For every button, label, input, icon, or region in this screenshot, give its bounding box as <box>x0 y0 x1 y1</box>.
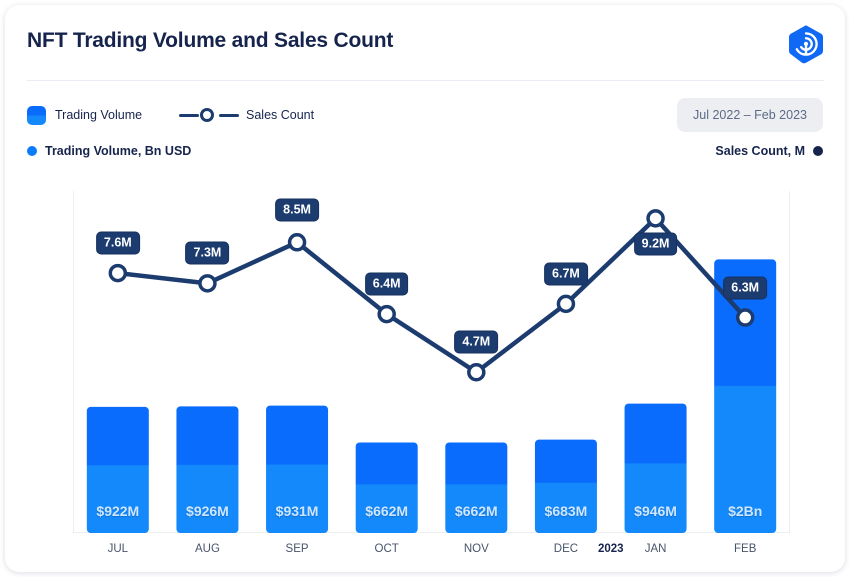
bar-value-label-aug: $926M <box>186 503 229 519</box>
page-title: NFT Trading Volume and Sales Count <box>27 29 393 53</box>
x-axis-year-divider: 2023 <box>598 543 624 555</box>
x-axis-tick-nov: NOV <box>464 543 489 555</box>
sales-count-label-nov: 4.7M <box>454 331 498 354</box>
bar-nov[interactable] <box>445 442 507 533</box>
legend-bar-label: Trading Volume <box>55 108 142 122</box>
sales-count-label-aug: 7.3M <box>186 242 230 265</box>
bar-value-label-feb: $2Bn <box>728 503 762 519</box>
legend-item-sales-count[interactable]: Sales Count <box>179 104 314 126</box>
date-range-pill[interactable]: Jul 2022 – Feb 2023 <box>677 98 823 132</box>
legend-item-trading-volume[interactable]: Trading Volume <box>27 104 142 126</box>
legend-line-marker-icon <box>179 106 239 124</box>
hexagon-spiral-logo-icon <box>784 22 828 66</box>
x-axis-tick-oct: OCT <box>375 543 399 555</box>
line-marker-feb[interactable] <box>738 310 753 325</box>
bar-value-label-oct: $662M <box>365 503 408 519</box>
sales-count-label-dec: 6.7M <box>544 262 588 285</box>
x-axis-tick-dec: DEC <box>554 543 578 555</box>
left-axis-title-label: Trading Volume, Bn USD <box>45 144 191 158</box>
sales-count-label-oct: 6.4M <box>365 273 409 296</box>
bar-value-label-sep: $931M <box>276 503 319 519</box>
line-marker-jan[interactable] <box>648 211 663 226</box>
line-marker-aug[interactable] <box>200 276 215 291</box>
bar-value-label-jan: $946M <box>634 503 677 519</box>
x-axis-tick-jul: JUL <box>108 543 128 555</box>
line-marker-jul[interactable] <box>110 266 125 281</box>
bar-value-label-dec: $683M <box>545 503 588 519</box>
right-axis-title-label: Sales Count, M <box>715 144 805 158</box>
left-axis-dot-icon <box>27 146 37 156</box>
sales-count-label-sep: 8.5M <box>275 199 319 222</box>
left-axis-title: Trading Volume, Bn USD <box>27 144 191 158</box>
line-marker-dec[interactable] <box>558 296 573 311</box>
line-marker-nov[interactable] <box>469 365 484 380</box>
chart-svg <box>73 191 790 533</box>
bar-oct[interactable] <box>356 442 418 533</box>
sales-count-label-jan: 9.2M <box>634 233 678 256</box>
line-marker-oct[interactable] <box>379 307 394 322</box>
sales-count-label-jul: 7.6M <box>96 232 140 255</box>
legend-line-label: Sales Count <box>246 108 314 122</box>
chart-plot-area: 0$0.5$1$1.5$2$2.5 0246810 JULAUGSEPOCTNO… <box>73 191 790 533</box>
x-axis-tick-sep: SEP <box>286 543 309 555</box>
bar-value-label-jul: $922M <box>96 503 139 519</box>
x-axis-tick-aug: AUG <box>195 543 220 555</box>
legend-bar-swatch-icon <box>27 106 46 125</box>
x-axis-tick-jan: JAN <box>645 543 667 555</box>
sales-count-label-feb: 6.3M <box>723 276 767 299</box>
x-axis-tick-feb: FEB <box>734 543 756 555</box>
header-divider <box>27 80 824 81</box>
bar-value-label-nov: $662M <box>455 503 498 519</box>
chart-card: NFT Trading Volume and Sales Count Tradi… <box>5 5 845 572</box>
bar-feb[interactable] <box>714 259 776 533</box>
right-axis-title: Sales Count, M <box>715 144 823 158</box>
line-marker-sep[interactable] <box>290 235 305 250</box>
right-axis-dot-icon <box>813 146 823 156</box>
